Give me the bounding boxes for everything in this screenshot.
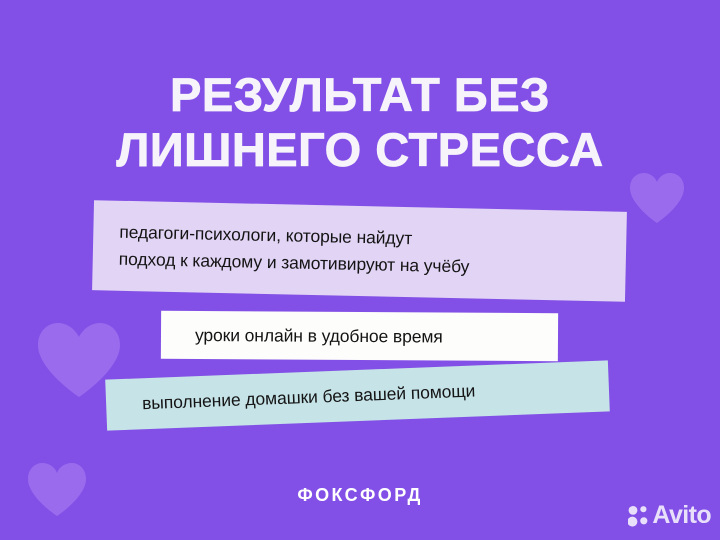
benefit-banner-teachers-text: педагоги-психологи, которые найдут подхо… [118, 219, 470, 281]
heart-icon [628, 172, 686, 224]
promo-poster: Результат без Лишнего стресса педагоги-п… [0, 0, 720, 540]
brand-logo: Фоксфорд [0, 485, 720, 506]
avito-watermark: Avito [628, 503, 711, 528]
benefit-banner-online-lessons: уроки онлайн в удобное время [161, 311, 558, 361]
avito-dots-icon [628, 505, 649, 527]
benefit-banner-homework-text: выполнение домашки без вашей помощи [142, 377, 476, 417]
benefit-banner-online-lessons-text: уроки онлайн в удобное время [195, 321, 443, 350]
page-title: Результат без Лишнего стресса [0, 67, 720, 177]
benefit-banner-homework: выполнение домашки без вашей помощи [105, 360, 610, 430]
benefit-banner-teachers: педагоги-психологи, которые найдут подхо… [92, 200, 627, 302]
avito-wordmark: Avito [652, 503, 711, 528]
headline-line-2: Лишнего стресса [0, 122, 720, 177]
headline-line-1: Результат без [0, 67, 720, 122]
